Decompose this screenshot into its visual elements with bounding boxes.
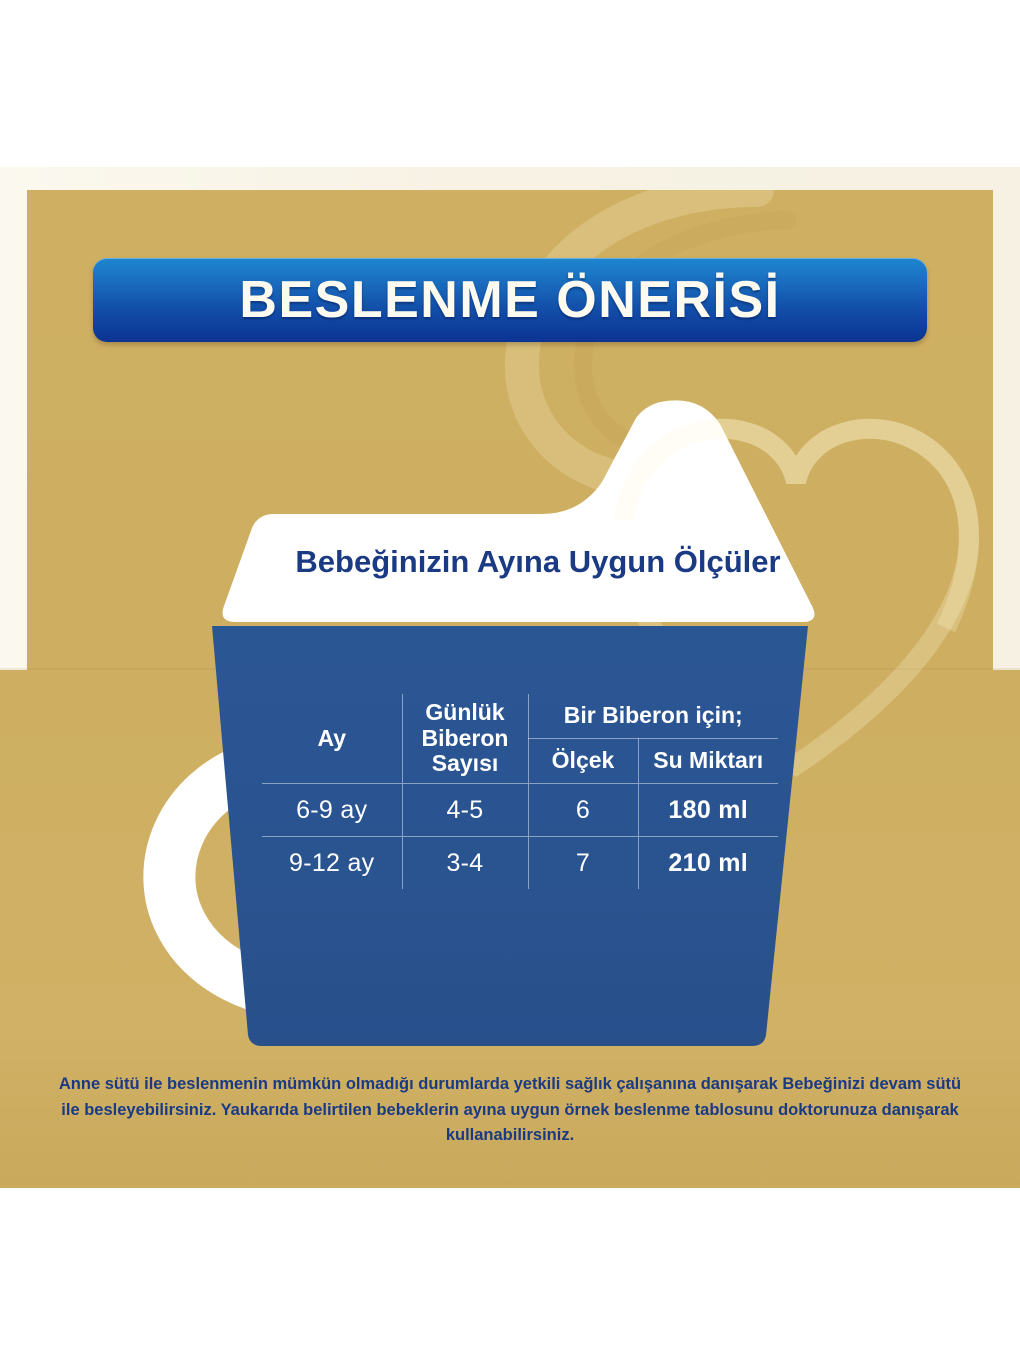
column-header-ay: Ay [262, 694, 402, 784]
page-title: BESLENME ÖNERİSİ [239, 270, 780, 330]
column-header-bir-biberon-icin: Bir Biberon için; [528, 694, 778, 739]
cell-ay: 6-9 ay [262, 784, 402, 837]
cell-su-miktari: 180 ml [638, 784, 778, 837]
table-row: 9-12 ay 3-4 7 210 ml [262, 837, 778, 890]
cup-lid-title: Bebeğinizin Ayına Uygun Ölçüler [258, 544, 818, 580]
cell-gunluk: 3-4 [402, 837, 528, 890]
cell-gunluk: 4-5 [402, 784, 528, 837]
column-header-su-miktari: Su Miktarı [638, 739, 778, 784]
column-header-gunluk-biberon-sayisi: Günlük Biberon Sayısı [402, 694, 528, 784]
feeding-table-container: Ay Günlük Biberon Sayısı Bir Biberon içi… [262, 694, 778, 889]
cell-olcek: 6 [528, 784, 638, 837]
column-header-olcek: Ölçek [528, 739, 638, 784]
table-header-row-top: Ay Günlük Biberon Sayısı Bir Biberon içi… [262, 694, 778, 739]
poster-canvas: BESLENME ÖNERİSİ Bebeğinizin Ayına Uygun… [0, 0, 1020, 1360]
cell-olcek: 7 [528, 837, 638, 890]
section-header-banner: BESLENME ÖNERİSİ [93, 258, 927, 342]
disclaimer-note: Anne sütü ile beslenmenin mümkün olmadığ… [52, 1072, 968, 1149]
table-row: 6-9 ay 4-5 6 180 ml [262, 784, 778, 837]
measuring-cup-graphic: Bebeğinizin Ayına Uygun Ölçüler Ay Günlü… [140, 398, 840, 1048]
cell-su-miktari: 210 ml [638, 837, 778, 890]
feeding-table: Ay Günlük Biberon Sayısı Bir Biberon içi… [262, 694, 778, 889]
cell-ay: 9-12 ay [262, 837, 402, 890]
